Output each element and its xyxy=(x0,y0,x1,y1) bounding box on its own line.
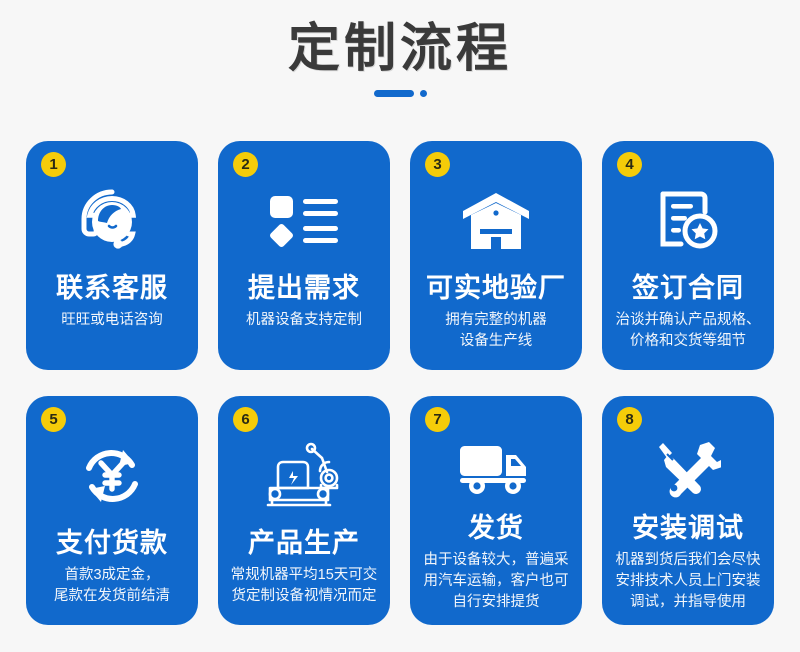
step-title-6: 产品生产 xyxy=(248,526,360,560)
page-title: 定制流程 xyxy=(0,18,800,80)
step-card-3[interactable]: 3 可实地验厂 拥有完整的机器 设备生产线 xyxy=(410,141,582,370)
step-desc-line: 拥有完整的机器 xyxy=(420,310,572,331)
step-desc-line: 自行安排提货 xyxy=(420,592,572,613)
title-accent-decoration xyxy=(0,90,800,97)
step-badge-3: 3 xyxy=(425,152,450,177)
step-desc-line: 常规机器平均15天可交 xyxy=(228,565,380,586)
step-desc-line: 用汽车运输，客户也可 xyxy=(420,571,572,592)
step-card-7[interactable]: 7 发货 由于设备较大，普遍采 用汽车运输，客户也可 自行安排提货 xyxy=(410,396,582,625)
delivery-truck-icon xyxy=(420,428,572,509)
step-badge-6: 6 xyxy=(233,407,258,432)
yuan-payment-refresh-icon xyxy=(36,428,188,524)
step-desc-line: 治谈并确认产品规格、 xyxy=(612,310,764,331)
headset-support-icon xyxy=(36,173,188,269)
step-desc-2: 机器设备支持定制 xyxy=(228,310,380,331)
step-title-1: 联系客服 xyxy=(56,271,168,305)
step-desc-7: 由于设备较大，普遍采 用汽车运输，客户也可 自行安排提货 xyxy=(420,550,572,613)
step-card-2[interactable]: 2 提出需求 机器设备支持定制 xyxy=(218,141,390,370)
contract-seal-icon xyxy=(612,173,764,269)
factory-building-icon xyxy=(420,173,572,269)
step-desc-line: 尾款在发货前结清 xyxy=(36,586,188,607)
step-desc-3: 拥有完整的机器 设备生产线 xyxy=(420,310,572,352)
step-desc-5: 首款3成定金， 尾款在发货前结清 xyxy=(36,565,188,607)
step-title-3: 可实地验厂 xyxy=(426,271,566,305)
page-header: 定制流程 xyxy=(0,0,800,97)
step-card-8[interactable]: 8 安装调试 机器到货后我们会尽快 安排技术人员上门安装 调试，并指导使用 xyxy=(602,396,774,625)
requirement-list-icon xyxy=(228,173,380,269)
step-title-4: 签订合同 xyxy=(632,271,744,305)
step-card-5[interactable]: 5 支付货款 首款3成定金， 尾款在发货前结清 xyxy=(26,396,198,625)
step-badge-8: 8 xyxy=(617,407,642,432)
step-card-1[interactable]: 1 联系客服 旺旺或电话咨询 xyxy=(26,141,198,370)
step-desc-line: 首款3成定金， xyxy=(36,565,188,586)
step-desc-line: 价格和交货等细节 xyxy=(612,331,764,352)
step-desc-line: 旺旺或电话咨询 xyxy=(36,310,188,331)
step-desc-line: 机器设备支持定制 xyxy=(228,310,380,331)
accent-dot xyxy=(420,90,427,97)
step-desc-line: 调试，并指导使用 xyxy=(612,592,764,613)
step-desc-line: 机器到货后我们会尽快 xyxy=(612,550,764,571)
step-desc-8: 机器到货后我们会尽快 安排技术人员上门安装 调试，并指导使用 xyxy=(612,550,764,613)
accent-bar xyxy=(374,90,414,97)
step-desc-line: 安排技术人员上门安装 xyxy=(612,571,764,592)
step-title-2: 提出需求 xyxy=(248,271,360,305)
step-badge-4: 4 xyxy=(617,152,642,177)
step-badge-5: 5 xyxy=(41,407,66,432)
step-desc-4: 治谈并确认产品规格、 价格和交货等细节 xyxy=(612,310,764,352)
step-card-4[interactable]: 4 签订合同 治谈并确认产品规格、 价格和交货等细节 xyxy=(602,141,774,370)
step-title-7: 发货 xyxy=(468,511,524,545)
process-steps-grid: 1 联系客服 旺旺或电话咨询 2 xyxy=(26,141,774,625)
step-badge-2: 2 xyxy=(233,152,258,177)
step-desc-line: 设备生产线 xyxy=(420,331,572,352)
step-card-6[interactable]: 6 产品生产 常规机器 xyxy=(218,396,390,625)
robot-arm-conveyor-icon xyxy=(228,428,380,524)
step-desc-1: 旺旺或电话咨询 xyxy=(36,310,188,331)
wrench-screwdriver-icon xyxy=(612,428,764,509)
step-desc-line: 货定制设备视情况而定 xyxy=(228,586,380,607)
step-badge-7: 7 xyxy=(425,407,450,432)
step-desc-line: 由于设备较大，普遍采 xyxy=(420,550,572,571)
step-badge-1: 1 xyxy=(41,152,66,177)
step-title-5: 支付货款 xyxy=(56,526,168,560)
step-title-8: 安装调试 xyxy=(632,511,744,545)
step-desc-6: 常规机器平均15天可交 货定制设备视情况而定 xyxy=(228,565,380,607)
